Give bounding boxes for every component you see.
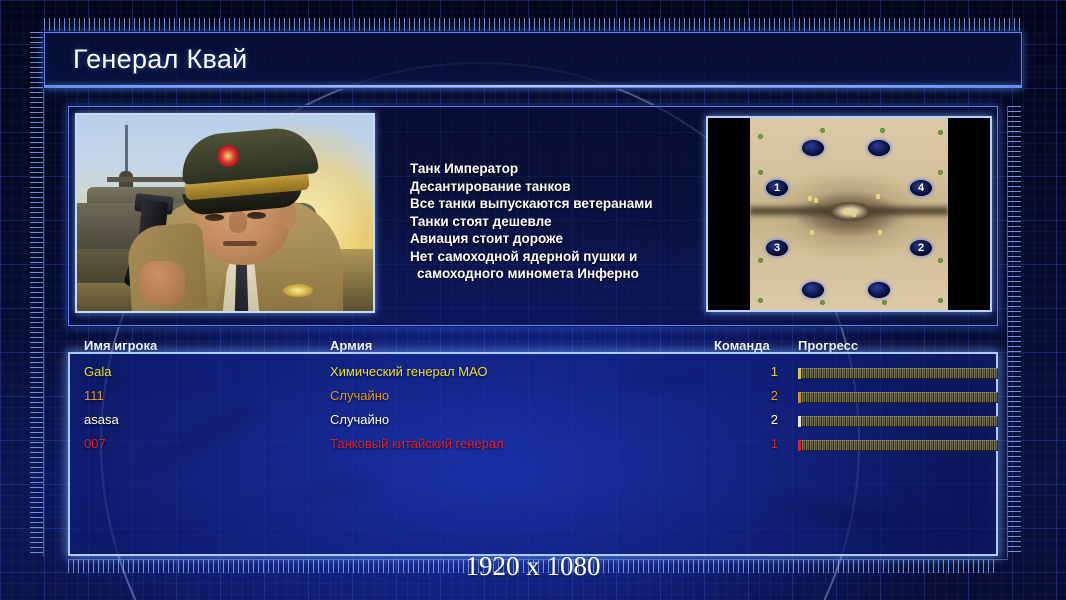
map-start-position-1[interactable]: 1 xyxy=(766,180,788,196)
progress-bar-fill xyxy=(798,440,998,451)
table-row[interactable]: GalaХимический генерал МАО1 xyxy=(68,362,998,386)
map-supply-crate xyxy=(878,230,882,235)
cell-name: Gala xyxy=(84,364,111,379)
progress-bar-fill xyxy=(798,368,998,379)
table-row[interactable]: asasaСлучайно2 xyxy=(68,410,998,434)
map-center-feature xyxy=(828,202,872,221)
cell-name: 007 xyxy=(84,436,106,451)
map-supply-crate xyxy=(814,198,818,203)
map-preview[interactable]: 1432 xyxy=(706,116,992,312)
progress-bar xyxy=(798,368,998,379)
map-tree xyxy=(938,170,943,175)
map-start-position[interactable] xyxy=(802,282,824,298)
map-start-position-2[interactable]: 2 xyxy=(910,240,932,256)
progress-bar-player-cap xyxy=(798,416,801,427)
portrait-nose xyxy=(229,211,247,233)
cell-army: Случайно xyxy=(330,412,389,427)
ability-line: Десантирование танков xyxy=(410,178,690,196)
portrait-artwork xyxy=(77,115,373,311)
map-supply-crate xyxy=(844,210,848,215)
portrait-eye-right xyxy=(247,212,266,219)
map-supply-crate xyxy=(876,194,880,199)
portrait-eye-left xyxy=(205,214,224,221)
table-row[interactable]: 111Случайно2 xyxy=(68,386,998,410)
map-start-position[interactable] xyxy=(802,140,824,156)
map-tree xyxy=(820,128,825,133)
ruler-right-line xyxy=(1007,106,1008,558)
general-portrait xyxy=(75,113,375,313)
progress-bar-player-cap xyxy=(798,392,801,403)
map-tree xyxy=(758,134,763,139)
cell-army: Химический генерал МАО xyxy=(330,364,488,379)
ruler-top xyxy=(44,18,1022,31)
map-tree xyxy=(880,128,885,133)
progress-bar-player-cap xyxy=(798,440,801,451)
progress-bar-fill xyxy=(798,392,998,403)
map-tree xyxy=(938,258,943,263)
map-tree xyxy=(758,170,763,175)
map-tree xyxy=(938,298,943,303)
resolution-label: 1920 x 1080 xyxy=(0,551,1066,582)
game-options-screen: Генерал Квай xyxy=(0,0,1066,600)
cell-army: Танковый китайский генерал xyxy=(330,436,504,451)
map-supply-crate xyxy=(852,212,856,217)
player-roster-rows: GalaХимический генерал МАО1111Случайно2a… xyxy=(68,362,998,458)
progress-bar xyxy=(798,416,998,427)
ruler-right xyxy=(1008,106,1021,556)
ability-line: Танки стоят дешевле xyxy=(410,213,690,231)
title-underline xyxy=(45,85,1021,87)
portrait-mouth xyxy=(223,241,257,246)
map-tree xyxy=(882,300,887,305)
progress-bar xyxy=(798,392,998,403)
map-supply-crate xyxy=(808,196,812,201)
map-preview-image: 1432 xyxy=(750,118,948,310)
cell-team: 1 xyxy=(746,436,778,451)
map-tree xyxy=(758,258,763,263)
cell-name: asasa xyxy=(84,412,119,427)
column-header-team: Команда xyxy=(714,338,770,353)
column-header-progress: Прогресс xyxy=(798,338,858,353)
general-abilities-list: Танк ИмператорДесантирование танковВсе т… xyxy=(410,160,690,283)
cell-name: 111 xyxy=(84,388,104,403)
portrait-rank-badge xyxy=(283,284,313,297)
map-start-position[interactable] xyxy=(868,282,890,298)
table-row[interactable]: 007Танковый китайский генерал1 xyxy=(68,434,998,458)
cell-team: 1 xyxy=(746,364,778,379)
progress-bar-player-cap xyxy=(798,368,801,379)
ability-line: Авиация стоит дороже xyxy=(410,230,690,248)
ability-line: Все танки выпускаются ветеранами xyxy=(410,195,690,213)
progress-bar xyxy=(798,440,998,451)
ability-line: самоходного миномета Инферно xyxy=(410,265,690,283)
map-start-position[interactable] xyxy=(868,140,890,156)
map-tree xyxy=(820,300,825,305)
column-header-name: Имя игрока xyxy=(84,338,157,353)
cell-army: Случайно xyxy=(330,388,389,403)
map-tree xyxy=(938,130,943,135)
portrait-hand xyxy=(139,261,185,305)
page-title: Генерал Квай xyxy=(73,44,248,75)
column-header-army: Армия xyxy=(330,338,372,353)
title-panel: Генерал Квай xyxy=(44,32,1022,88)
progress-bar-fill xyxy=(798,416,998,427)
map-start-position-4[interactable]: 4 xyxy=(910,180,932,196)
map-start-position-3[interactable]: 3 xyxy=(766,240,788,256)
cell-team: 2 xyxy=(746,388,778,403)
ruler-left-line xyxy=(43,32,44,556)
ruler-left xyxy=(30,32,43,556)
ability-line: Танк Император xyxy=(410,160,690,178)
cell-team: 2 xyxy=(746,412,778,427)
map-tree xyxy=(758,298,763,303)
map-supply-crate xyxy=(810,230,814,235)
ability-line: Нет самоходной ядерной пушки и xyxy=(410,248,690,266)
